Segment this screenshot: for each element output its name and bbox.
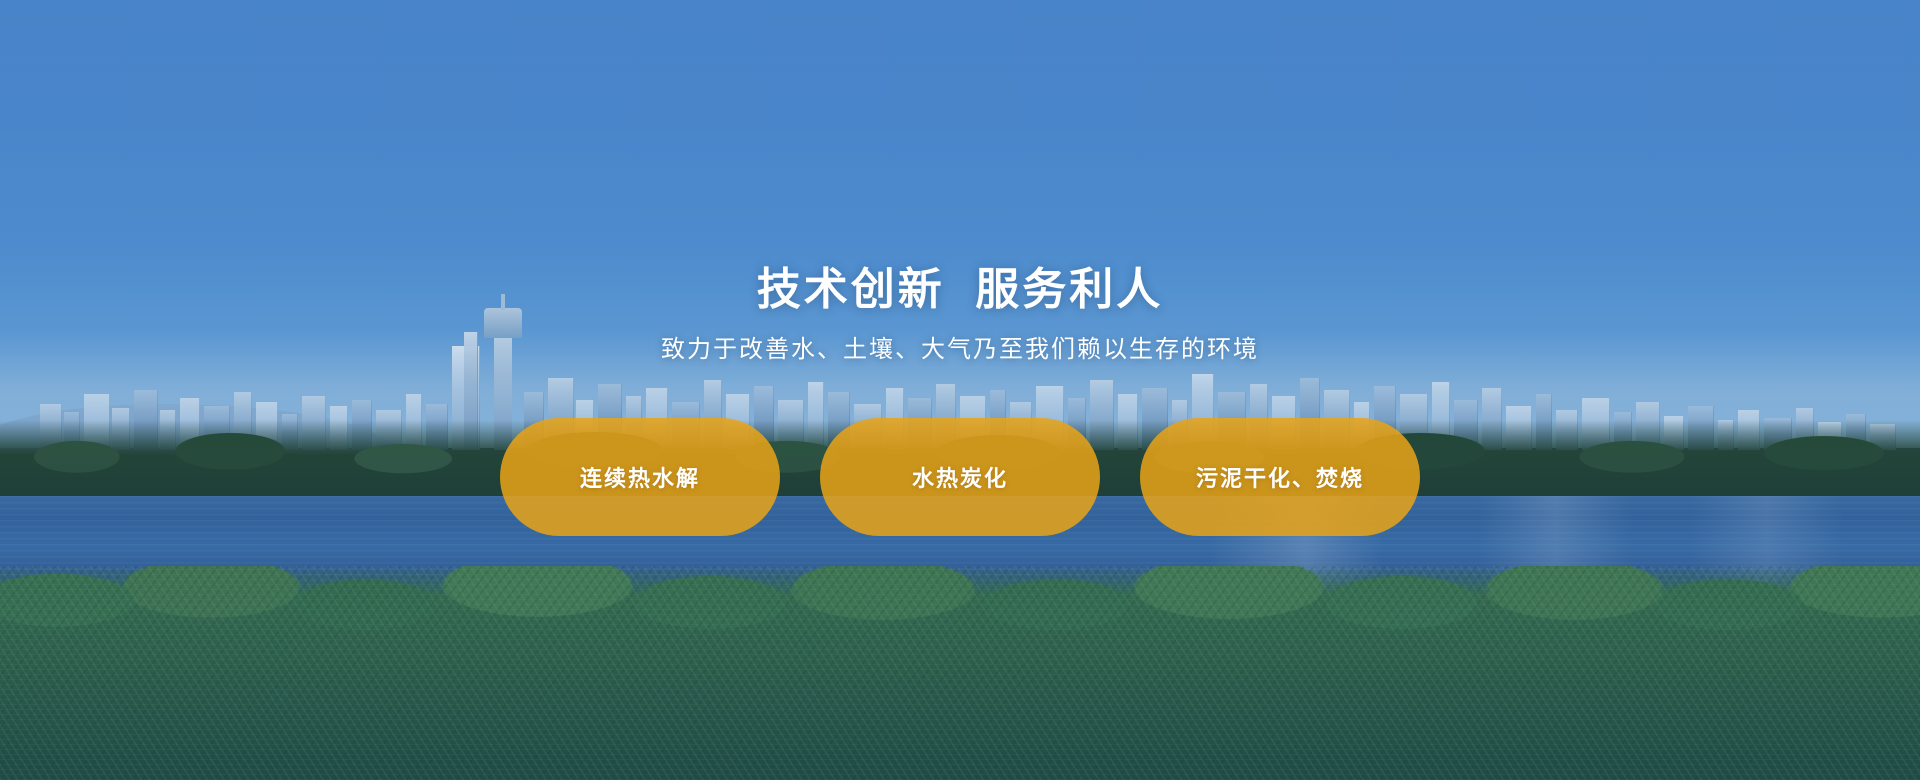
hero-button-row: 连续热水解 水热炭化 污泥干化、焚烧 [500,418,1420,536]
hero-button-hydrothermal-carbonization[interactable]: 水热炭化 [820,418,1100,536]
hero-button-sludge-drying-incineration[interactable]: 污泥干化、焚烧 [1140,418,1420,536]
hero-button-continuous-thermal-hydrolysis[interactable]: 连续热水解 [500,418,780,536]
hero-button-label: 水热炭化 [912,461,1008,493]
hero-button-label: 连续热水解 [580,461,700,493]
hero-banner: 技术创新 服务利人 致力于改善水、土壤、大气乃至我们赖以生存的环境 连续热水解 … [0,0,1920,780]
hero-button-label: 污泥干化、焚烧 [1196,461,1364,493]
hero-title: 技术创新 服务利人 [757,266,1163,314]
hero-subtitle: 致力于改善水、土壤、大气乃至我们赖以生存的环境 [661,334,1259,365]
hero-content: 技术创新 服务利人 致力于改善水、土壤、大气乃至我们赖以生存的环境 连续热水解 … [0,0,1920,780]
